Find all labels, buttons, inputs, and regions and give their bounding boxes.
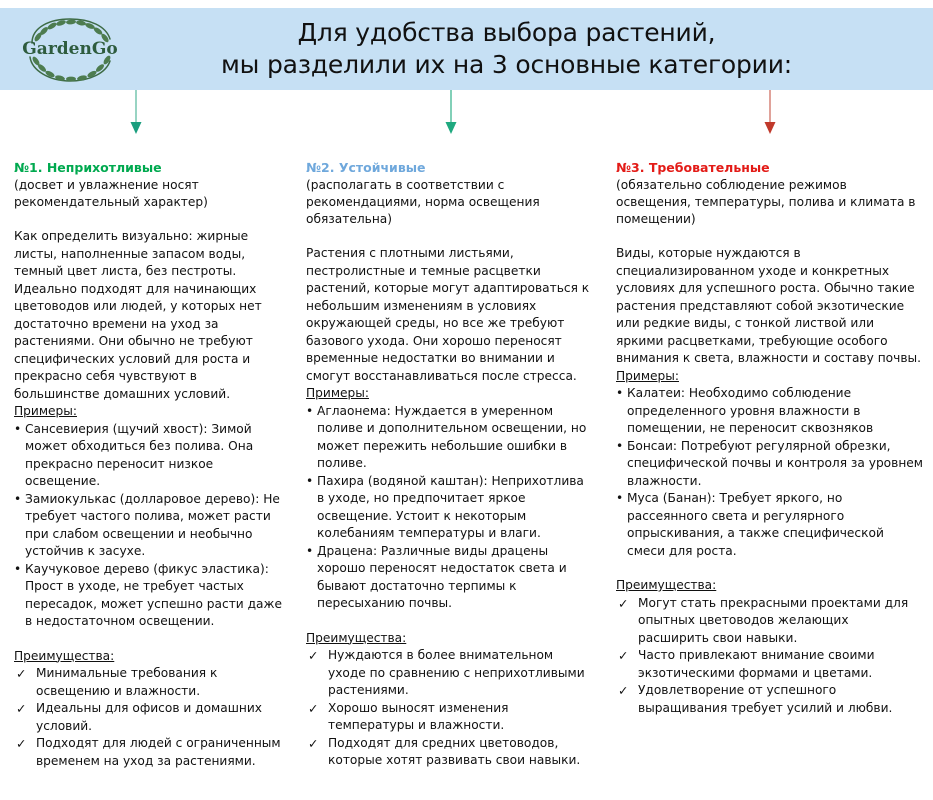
list-item-text: Пахира (водяной каштан): Неприхотлива в … bbox=[317, 474, 584, 541]
list-item: •Сансевиерия (щучий хвост): Зимой может … bbox=[14, 421, 284, 491]
list-item: ✓Удовлетворение от успешного выращивания… bbox=[616, 682, 923, 717]
list-item-text: Аглаонема: Нуждается в умеренном поливе … bbox=[317, 404, 586, 471]
list-item: •Муса (Банан): Требует яркого, но рассея… bbox=[616, 490, 923, 560]
bullet-icon: • bbox=[306, 543, 313, 561]
list-item-text: Каучуковое дерево (фикус эластика): Прос… bbox=[25, 562, 282, 629]
bullet-icon: • bbox=[616, 385, 623, 403]
bullet-icon: • bbox=[616, 490, 623, 508]
category-2-examples-label: Примеры: bbox=[306, 385, 592, 403]
check-icon: ✓ bbox=[16, 735, 26, 753]
category-3-heading: №3. Требовательные bbox=[616, 160, 923, 176]
list-item: ✓Идеальны для офисов и домашних условий. bbox=[14, 700, 284, 735]
bullet-icon: • bbox=[616, 438, 623, 456]
check-icon: ✓ bbox=[308, 700, 318, 718]
page-title-line-2: мы разделили их на 3 основные категории: bbox=[140, 49, 873, 81]
category-1-heading: №1. Неприхотливые bbox=[14, 160, 284, 176]
category-column-1: №1. Неприхотливые (досвет и увлажнение н… bbox=[0, 160, 300, 770]
page-title-line-1: Для удобства выбора растений, bbox=[140, 17, 873, 49]
check-icon: ✓ bbox=[618, 595, 628, 613]
category-column-3: №3. Требовательные (обязательно соблюден… bbox=[608, 160, 933, 770]
list-item: ✓Хорошо выносят изменения температуры и … bbox=[306, 700, 592, 735]
list-item: ✓Часто привлекают внимание своими экзоти… bbox=[616, 647, 923, 682]
list-item: •Пахира (водяной каштан): Неприхотлива в… bbox=[306, 473, 592, 543]
bullet-icon: • bbox=[14, 561, 21, 579]
laurel-wreath-icon: GardenGo bbox=[10, 13, 130, 85]
category-2-advantages-list: ✓Нуждаются в более внимательном уходе по… bbox=[306, 647, 592, 770]
category-columns: №1. Неприхотливые (досвет и увлажнение н… bbox=[0, 160, 933, 770]
list-item: ✓Могут стать прекрасными проектами для о… bbox=[616, 595, 923, 648]
bullet-icon: • bbox=[14, 421, 21, 439]
category-2-description: Растения с плотными листьями, пестролист… bbox=[306, 245, 592, 385]
list-item: •Каучуковое дерево (фикус эластика): Про… bbox=[14, 561, 284, 631]
category-3-description: Виды, которые нуждаются в специализирова… bbox=[616, 245, 923, 368]
page-header: GardenGo Для удобства выбора растений, м… bbox=[0, 8, 933, 90]
category-1-advantages-label: Преимущества: bbox=[14, 648, 284, 666]
category-2-heading: №2. Устойчивые bbox=[306, 160, 592, 176]
category-3-examples-label: Примеры: bbox=[616, 368, 923, 386]
infographic-page: GardenGo Для удобства выбора растений, м… bbox=[0, 0, 933, 800]
list-item-text: Минимальные требования к освещению и вла… bbox=[36, 666, 217, 698]
arrow-down-category-3 bbox=[762, 90, 778, 138]
list-item: •Аглаонема: Нуждается в умеренном поливе… bbox=[306, 403, 592, 473]
arrow-down-category-2 bbox=[443, 90, 459, 138]
check-icon: ✓ bbox=[16, 700, 26, 718]
check-icon: ✓ bbox=[16, 665, 26, 683]
category-3-advantages-list: ✓Могут стать прекрасными проектами для о… bbox=[616, 595, 923, 718]
list-item-text: Драцена: Различные виды драцены хорошо п… bbox=[317, 544, 567, 611]
page-title: Для удобства выбора растений, мы раздели… bbox=[140, 17, 933, 81]
category-1-subtitle: (досвет и увлажнение носят рекомендатель… bbox=[14, 177, 284, 211]
category-2-advantages-label: Преимущества: bbox=[306, 630, 592, 648]
list-item-text: Муса (Банан): Требует яркого, но рассеян… bbox=[627, 491, 884, 558]
list-item-text: Удовлетворение от успешного выращивания … bbox=[638, 683, 892, 715]
list-item: ✓Подходят для средних цветоводов, которы… bbox=[306, 735, 592, 770]
list-item-text: Часто привлекают внимание своими экзотич… bbox=[638, 648, 874, 680]
category-2-subtitle: (располагать в соответствии с рекомендац… bbox=[306, 177, 592, 228]
list-item-text: Идеальны для офисов и домашних условий. bbox=[36, 701, 262, 733]
bullet-icon: • bbox=[14, 491, 21, 509]
category-3-advantages-label: Преимущества: bbox=[616, 577, 923, 595]
category-3-examples-list: •Калатеи: Необходимо соблюдение определе… bbox=[616, 385, 923, 560]
list-item-text: Калатеи: Необходимо соблюдение определен… bbox=[627, 386, 873, 435]
category-3-subtitle: (обязательно соблюдение режимов освещени… bbox=[616, 177, 923, 228]
list-item-text: Могут стать прекрасными проектами для оп… bbox=[638, 596, 908, 645]
bullet-icon: • bbox=[306, 473, 313, 491]
category-1-advantages-list: ✓Минимальные требования к освещению и вл… bbox=[14, 665, 284, 770]
list-item: •Калатеи: Необходимо соблюдение определе… bbox=[616, 385, 923, 438]
category-1-examples-list: •Сансевиерия (щучий хвост): Зимой может … bbox=[14, 421, 284, 631]
category-column-2: №2. Устойчивые (располагать в соответств… bbox=[300, 160, 608, 770]
check-icon: ✓ bbox=[618, 682, 628, 700]
arrow-down-category-1 bbox=[128, 90, 144, 138]
check-icon: ✓ bbox=[618, 647, 628, 665]
check-icon: ✓ bbox=[308, 735, 318, 753]
list-item-text: Замиокулькас (долларовое дерево): Не тре… bbox=[25, 492, 280, 559]
brand-logo: GardenGo bbox=[0, 8, 140, 90]
category-2-examples-list: •Аглаонема: Нуждается в умеренном поливе… bbox=[306, 403, 592, 613]
category-1-examples-label: Примеры: bbox=[14, 403, 284, 421]
list-item-text: Хорошо выносят изменения температуры и в… bbox=[328, 701, 509, 733]
list-item-text: Сансевиерия (щучий хвост): Зимой может о… bbox=[25, 422, 253, 489]
list-item: •Замиокулькас (долларовое дерево): Не тр… bbox=[14, 491, 284, 561]
list-item-text: Подходят для средних цветоводов, которые… bbox=[328, 736, 580, 768]
brand-name: GardenGo bbox=[22, 39, 117, 59]
check-icon: ✓ bbox=[308, 647, 318, 665]
category-1-description: Как определить визуально: жирные листы, … bbox=[14, 228, 284, 403]
list-item: ✓Минимальные требования к освещению и вл… bbox=[14, 665, 284, 700]
list-item-text: Нуждаются в более внимательном уходе по … bbox=[328, 648, 585, 697]
list-item: •Бонсаи: Потребуют регулярной обрезки, с… bbox=[616, 438, 923, 491]
list-item: ✓Подходят для людей с ограниченным време… bbox=[14, 735, 284, 770]
list-item-text: Бонсаи: Потребуют регулярной обрезки, сп… bbox=[627, 439, 923, 488]
list-item-text: Подходят для людей с ограниченным времен… bbox=[36, 736, 281, 768]
category-arrows bbox=[0, 90, 933, 145]
bullet-icon: • bbox=[306, 403, 313, 421]
list-item: •Драцена: Различные виды драцены хорошо … bbox=[306, 543, 592, 613]
list-item: ✓Нуждаются в более внимательном уходе по… bbox=[306, 647, 592, 700]
